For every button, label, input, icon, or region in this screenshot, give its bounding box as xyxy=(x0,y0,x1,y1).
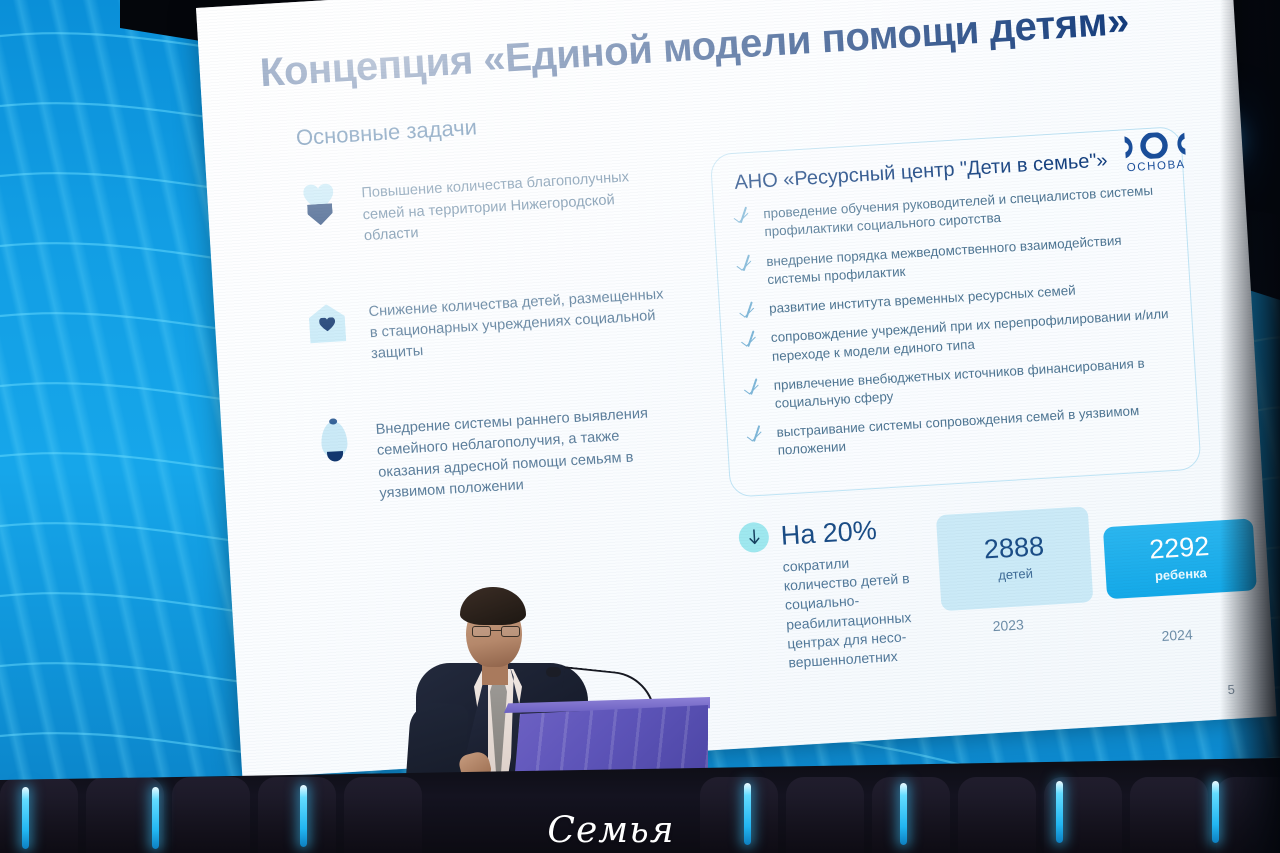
bar-unit-2023: детей xyxy=(998,566,1034,583)
led-tube-light xyxy=(1212,781,1219,843)
speaker-glasses xyxy=(472,626,520,637)
stat-percent: На 20% xyxy=(780,515,878,552)
heart-bud-icon xyxy=(299,183,342,231)
droplet-icon xyxy=(313,419,356,467)
check-icon xyxy=(744,332,759,349)
stat-headline: На 20% xyxy=(738,512,918,554)
led-tube-light xyxy=(744,783,751,845)
arrow-down-icon xyxy=(738,522,770,554)
house-heart-icon xyxy=(306,301,349,349)
page-number: 5 xyxy=(1227,682,1235,697)
led-tube-light xyxy=(300,785,307,847)
check-icon xyxy=(746,379,761,396)
brand-logo: ОСНОВА xyxy=(1111,130,1199,175)
bar-chart: 2888 детей 2292 ребенка 2023 2024 xyxy=(926,494,1221,661)
check-icon xyxy=(736,208,751,225)
led-tube-light xyxy=(22,787,29,849)
task-item: Снижение количества детей, размещенных в… xyxy=(306,280,697,370)
bar-year-2023: 2023 xyxy=(992,616,1024,634)
check-icon xyxy=(739,256,754,273)
stat-description: сократили количество детей в социально-р… xyxy=(740,549,925,675)
check-icon xyxy=(749,427,764,444)
ano-checklist: проведение обучения руководителей и спец… xyxy=(736,181,1177,462)
conference-stage-photo: Концепция «Единой модели помощи детям» О… xyxy=(0,0,1280,853)
task-item: Внедрение системы раннего выявления семе… xyxy=(313,398,706,509)
bar-2024: 2292 ребенка xyxy=(1103,518,1257,599)
task-item-label: Внедрение системы раннего выявления семе… xyxy=(375,400,680,506)
bar-unit-2024: ребенка xyxy=(1155,565,1208,583)
led-tube-light xyxy=(152,787,159,849)
led-tube-light xyxy=(1056,781,1063,843)
bar-value-2024: 2292 xyxy=(1148,533,1210,564)
stat-copy: На 20% сократили количество детей в соци… xyxy=(738,512,925,675)
bar-value-2023: 2888 xyxy=(983,533,1045,564)
task-item-label: Повышение количества благополучных семей… xyxy=(361,164,664,248)
led-tube-light xyxy=(900,783,907,845)
check-icon xyxy=(742,303,757,320)
podium-wordmark: Семья xyxy=(526,810,696,851)
bar-2023: 2888 детей xyxy=(936,506,1094,611)
projection-screen: Концепция «Единой модели помощи детям» О… xyxy=(196,0,1278,797)
microphone-head xyxy=(546,667,561,677)
task-item: Повышение количества благополучных семей… xyxy=(299,162,690,252)
speaker-hair xyxy=(460,587,526,625)
statistics-block: На 20% сократили количество детей в соци… xyxy=(732,494,1220,675)
task-item-label: Снижение количества детей, размещенных в… xyxy=(368,282,671,366)
ano-card: АНО «Ресурсный центр "Дети в семье"» про… xyxy=(710,126,1202,497)
right-column: АНО «Ресурсный центр "Дети в семье"» про… xyxy=(710,126,1221,676)
bar-year-2024: 2024 xyxy=(1161,626,1193,644)
osnova-logo-mark xyxy=(1122,131,1187,161)
